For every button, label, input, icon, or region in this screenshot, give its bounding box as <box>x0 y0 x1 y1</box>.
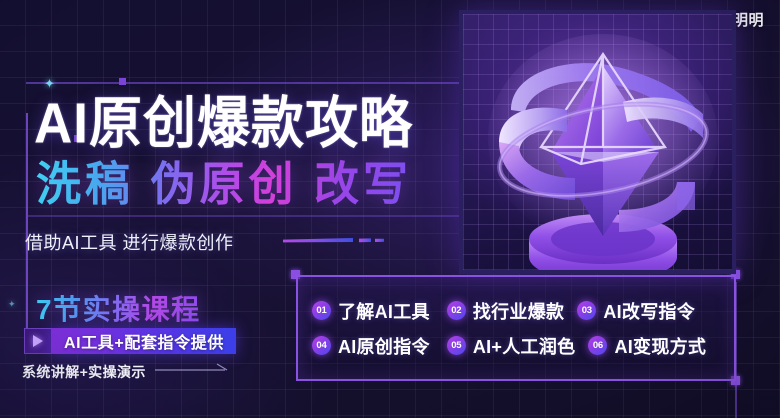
course-count: 7节实操课程 <box>36 288 201 328</box>
footnote: 系统讲解+实操演示 <box>22 362 146 382</box>
decor-hline-mid <box>26 215 466 217</box>
decor-dash-line <box>283 237 389 245</box>
curriculum-label: AI改写指令 <box>603 298 695 324</box>
curriculum-item[interactable]: 06 AI变现方式 <box>588 333 706 359</box>
artwork-panel <box>459 10 736 274</box>
tagline: 借助AI工具 进行爆款创作 <box>25 229 234 255</box>
curriculum-row: 01 了解AI工具 02 找行业爆款 03 AI改写指令 <box>312 298 720 324</box>
curriculum-box: 01 了解AI工具 02 找行业爆款 03 AI改写指令 04 AI原创指令 <box>296 275 736 381</box>
curriculum-row: 04 AI原创指令 05 AI+人工润色 06 AI变现方式 <box>312 333 720 359</box>
curriculum-item[interactable]: 04 AI原创指令 <box>312 333 430 359</box>
curriculum-item[interactable]: 05 AI+人工润色 <box>447 333 576 359</box>
curriculum-item[interactable]: 03 AI改写指令 <box>577 298 695 324</box>
curriculum-number: 06 <box>588 336 607 355</box>
page-subtitle: 洗稿 伪原创 改写 <box>36 146 412 214</box>
decor-vline-left <box>26 113 28 341</box>
play-triangle-icon <box>24 328 52 354</box>
sparkle-icon-3: ✦ <box>8 300 16 309</box>
curriculum-number: 03 <box>577 301 596 320</box>
curriculum-label: 找行业爆款 <box>473 298 565 324</box>
curriculum-item[interactable]: 01 了解AI工具 <box>312 298 430 324</box>
curriculum-item[interactable]: 02 找行业爆款 <box>447 298 565 324</box>
curriculum-label: AI变现方式 <box>614 333 706 359</box>
curriculum-label: AI原创指令 <box>338 333 430 359</box>
curriculum-number: 04 <box>312 336 331 355</box>
curriculum-label: AI+人工润色 <box>473 333 576 359</box>
feature-banner-label: AI工具+配套指令提供 <box>64 329 224 353</box>
curriculum-label: 了解AI工具 <box>338 298 430 324</box>
feature-banner: AI工具+配套指令提供 <box>52 328 236 354</box>
curriculum-number: 05 <box>447 336 466 355</box>
curriculum-number: 01 <box>312 301 331 320</box>
curriculum-number: 02 <box>447 301 466 320</box>
decor-arrow-icon <box>155 362 235 376</box>
octahedron-artwork-icon <box>463 14 736 274</box>
poster-canvas: ✦ ✦ ✦ @陆明明 <box>0 0 780 418</box>
